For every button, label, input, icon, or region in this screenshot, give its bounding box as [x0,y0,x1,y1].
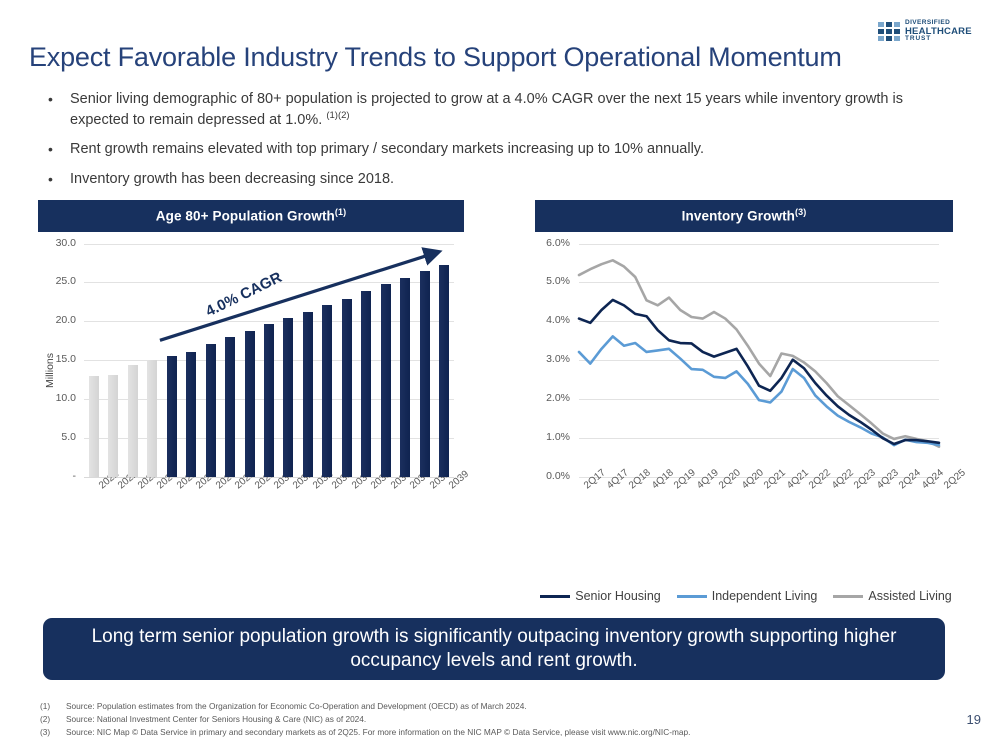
footnote-text: Source: Population estimates from the Or… [66,700,527,713]
line-series [579,336,939,445]
chart-panel-population: Age 80+ Population Growth(1) -5.010.015.… [38,200,464,587]
footnotes: (1) Source: Population estimates from th… [40,700,940,739]
legend-item: Independent Living [677,589,818,603]
line-chart-plot-area: 0.0%1.0%2.0%3.0%4.0%5.0%6.0%2Q174Q172Q18… [535,232,953,587]
footnote-item: (2) Source: National Investment Center f… [40,713,940,726]
legend-swatch [540,595,570,598]
line-series-group [535,232,953,587]
bullet-marker: • [44,170,70,190]
bullet-text: Rent growth remains elevated with top pr… [70,140,934,160]
company-logo: DIVERSIFIED HEALTHCARE TRUST [878,20,972,43]
legend-item: Senior Housing [540,589,660,603]
footnote-text: Source: National Investment Center for S… [66,713,366,726]
chart-title-superscript: (1) [335,207,346,217]
bullet-list: • Senior living demographic of 80+ popul… [44,90,934,199]
bullet-text: Senior living demographic of 80+ populat… [70,90,934,130]
page-number: 19 [967,712,981,727]
page-title: Expect Favorable Industry Trends to Supp… [29,42,842,73]
footnote-text: Source: NIC Map © Data Service in primar… [66,726,690,739]
legend-label: Independent Living [712,589,818,603]
legend-swatch [677,595,707,598]
legend-label: Senior Housing [575,589,660,603]
line-series [579,299,939,443]
chart-title-superscript: (3) [795,207,806,217]
line-series [579,260,939,446]
logo-line-3: TRUST [905,36,972,43]
footnote-number: (1) [40,700,66,713]
list-item: • Inventory growth has been decreasing s… [44,170,934,190]
chart-panel-inventory: Inventory Growth(3) 0.0%1.0%2.0%3.0%4.0%… [535,200,953,587]
footnote-number: (2) [40,713,66,726]
legend-label: Assisted Living [868,589,951,603]
footnote-item: (3) Source: NIC Map © Data Service in pr… [40,726,940,739]
chart-title-inventory: Inventory Growth(3) [535,200,953,232]
chart-title-population: Age 80+ Population Growth(1) [38,200,464,232]
bullet-superscript: (1)(2) [326,110,349,121]
bullet-marker: • [44,90,70,130]
legend-swatch [833,595,863,598]
logo-wordmark: DIVERSIFIED HEALTHCARE TRUST [905,20,972,43]
list-item: • Senior living demographic of 80+ popul… [44,90,934,130]
list-item: • Rent growth remains elevated with top … [44,140,934,160]
bullet-marker: • [44,140,70,160]
key-takeaway-banner: Long term senior population growth is si… [43,618,945,680]
bullet-text: Inventory growth has been decreasing sin… [70,170,934,190]
footnote-item: (1) Source: Population estimates from th… [40,700,940,713]
footnote-number: (3) [40,726,66,739]
logo-grid-icon [878,22,900,41]
chart-legend: Senior HousingIndependent LivingAssisted… [540,589,952,603]
legend-item: Assisted Living [833,589,951,603]
bar-chart-plot-area: -5.010.015.020.025.030.02021202220232024… [38,232,464,587]
